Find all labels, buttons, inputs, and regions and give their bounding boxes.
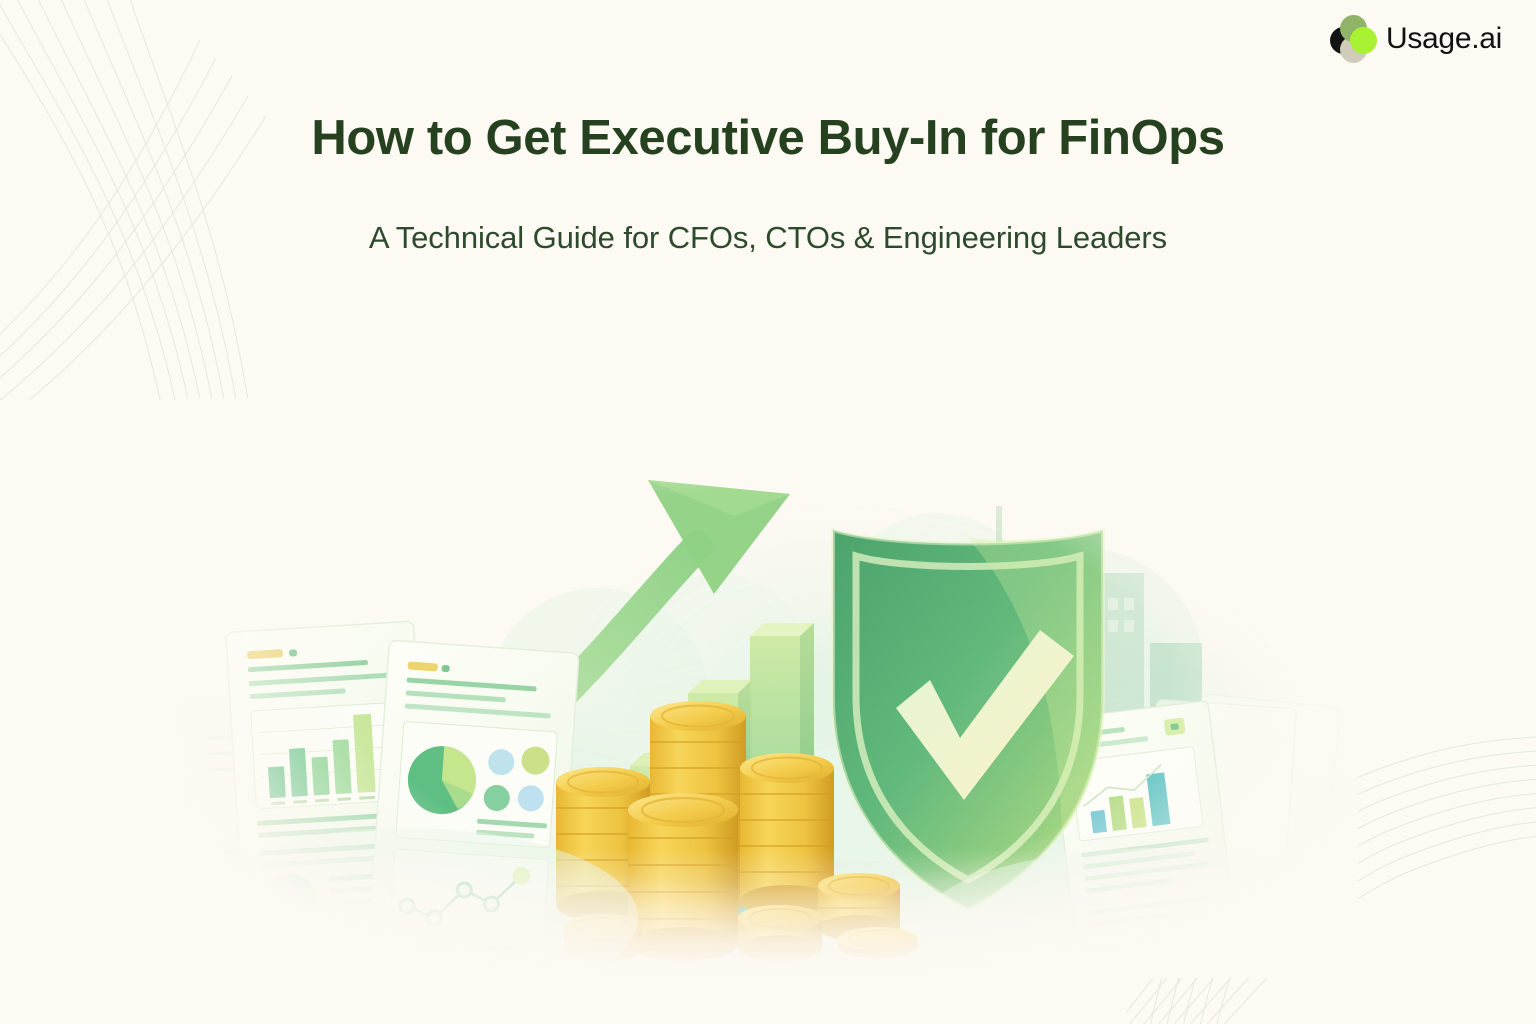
usage-logo-mark-icon bbox=[1330, 15, 1377, 62]
brand-logo[interactable]: Usage.ai bbox=[1330, 15, 1502, 62]
page-title: How to Get Executive Buy-In for FinOps bbox=[0, 110, 1536, 166]
brand-name: Usage.ai bbox=[1386, 24, 1502, 54]
page-subtitle: A Technical Guide for CFOs, CTOs & Engin… bbox=[0, 220, 1536, 256]
logo-circle-right bbox=[1350, 27, 1377, 54]
corner-line-pattern-top-left bbox=[0, 0, 310, 400]
slide-canvas: Usage.ai How to Get Executive Buy-In for… bbox=[0, 0, 1536, 1024]
hero-illustration bbox=[178, 398, 1358, 978]
